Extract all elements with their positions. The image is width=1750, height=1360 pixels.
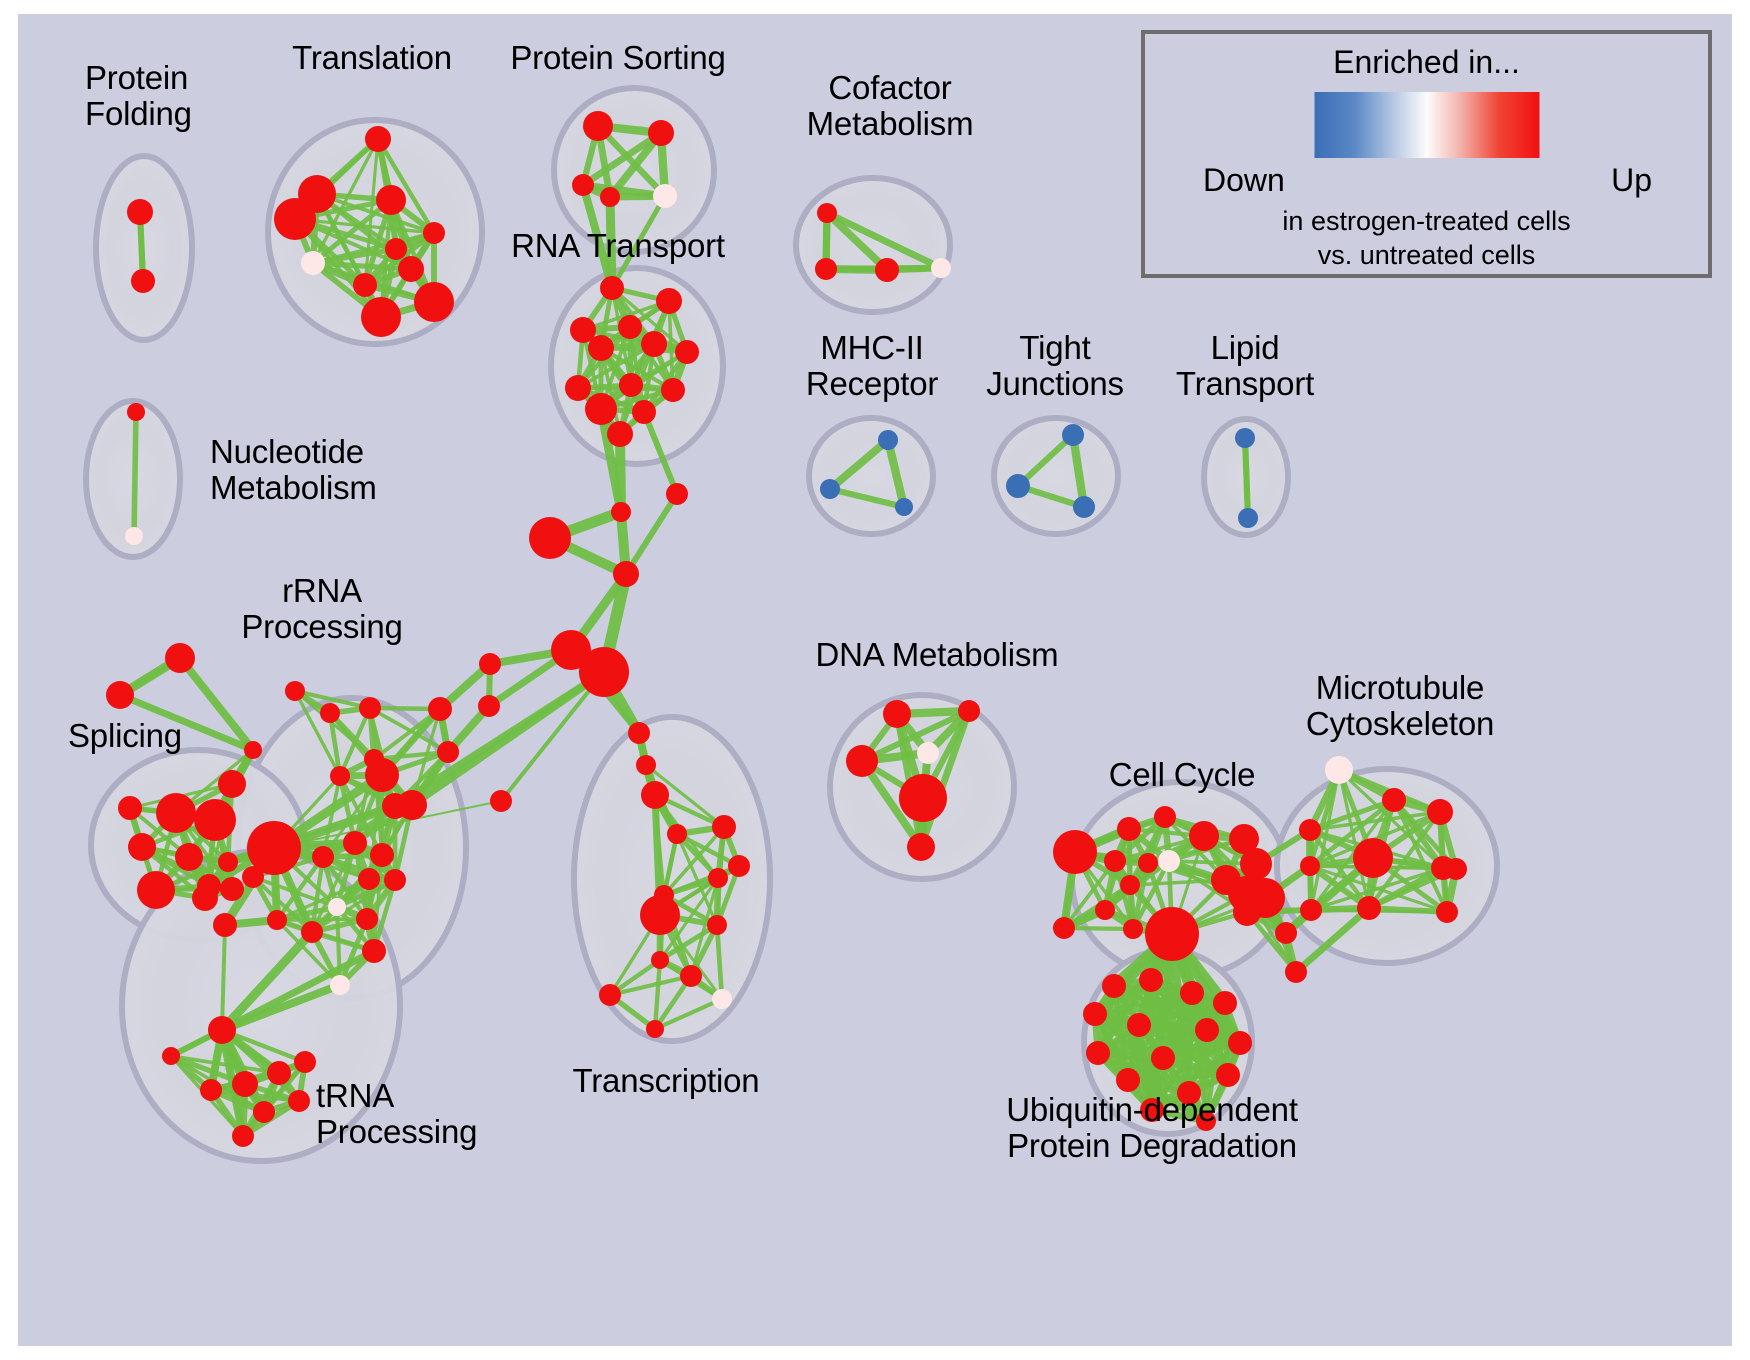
- network-node[interactable]: [127, 403, 145, 421]
- cluster-label-trna-processing: tRNA Processing: [316, 1078, 477, 1149]
- network-node[interactable]: [423, 222, 445, 244]
- network-node[interactable]: [641, 781, 669, 809]
- network-node[interactable]: [490, 790, 512, 812]
- network-node[interactable]: [1275, 922, 1297, 944]
- network-node[interactable]: [1240, 848, 1272, 880]
- network-node[interactable]: [194, 799, 236, 841]
- network-node[interactable]: [1300, 899, 1322, 921]
- network-node[interactable]: [1154, 806, 1176, 828]
- cluster-label-rrna-processing: rRNA Processing: [241, 573, 402, 644]
- network-node[interactable]: [958, 700, 980, 722]
- network-node[interactable]: [232, 1125, 254, 1147]
- network-node[interactable]: [125, 527, 143, 545]
- network-node[interactable]: [1180, 981, 1204, 1005]
- edge: [626, 494, 677, 574]
- cluster-label-cofactor-metabolism: Cofactor Metabolism: [807, 70, 974, 141]
- network-node[interactable]: [398, 256, 424, 282]
- network-node[interactable]: [1325, 756, 1353, 784]
- network-node[interactable]: [200, 1079, 222, 1101]
- network-node[interactable]: [707, 915, 727, 935]
- network-node[interactable]: [583, 111, 613, 141]
- network-node[interactable]: [301, 921, 323, 943]
- cluster-ellipse-mhc-ii-receptor[interactable]: [809, 418, 933, 534]
- edge: [1245, 438, 1248, 518]
- network-node[interactable]: [414, 282, 454, 322]
- network-node[interactable]: [213, 913, 237, 937]
- network-node[interactable]: [618, 315, 642, 339]
- network-node[interactable]: [529, 517, 571, 559]
- cluster-label-ubiquitin-degradation: Ubiquitin-dependent Protein Degradation: [1006, 1092, 1298, 1163]
- network-node[interactable]: [1102, 974, 1126, 998]
- network-node[interactable]: [646, 1020, 664, 1038]
- network-node[interactable]: [397, 790, 427, 820]
- network-node[interactable]: [641, 331, 667, 357]
- network-node[interactable]: [1158, 850, 1180, 872]
- figure-root: Protein FoldingTranslationProtein Sortin…: [0, 0, 1750, 1360]
- network-node[interactable]: [628, 722, 650, 744]
- network-node[interactable]: [478, 695, 500, 717]
- network-node[interactable]: [611, 502, 631, 522]
- network-node[interactable]: [1151, 1046, 1175, 1070]
- network-node[interactable]: [361, 297, 401, 337]
- network-node[interactable]: [585, 393, 617, 425]
- network-node[interactable]: [267, 910, 287, 930]
- network-node[interactable]: [1238, 508, 1258, 528]
- network-node[interactable]: [356, 908, 378, 930]
- network-node[interactable]: [1285, 961, 1307, 983]
- network-node[interactable]: [165, 643, 195, 673]
- network-node[interactable]: [479, 653, 501, 675]
- network-node[interactable]: [137, 871, 175, 909]
- network-node[interactable]: [1189, 821, 1219, 851]
- network-node[interactable]: [232, 1071, 258, 1097]
- legend-title: Enriched in...: [1145, 44, 1708, 81]
- network-node[interactable]: [365, 126, 391, 152]
- network-node[interactable]: [875, 258, 899, 282]
- network-node[interactable]: [162, 1047, 180, 1065]
- network-node[interactable]: [1299, 819, 1321, 841]
- network-node[interactable]: [636, 755, 656, 775]
- network-node[interactable]: [895, 498, 913, 516]
- network-node[interactable]: [1073, 496, 1095, 518]
- network-node[interactable]: [1083, 1002, 1107, 1026]
- network-node[interactable]: [253, 1101, 275, 1123]
- network-node[interactable]: [600, 276, 624, 300]
- cluster-label-microtubule-cytoskeleton: Microtubule Cytoskeleton: [1306, 670, 1494, 741]
- network-node[interactable]: [712, 815, 736, 839]
- network-node[interactable]: [1053, 917, 1075, 939]
- cluster-label-splicing: Splicing: [68, 718, 182, 754]
- network-node[interactable]: [667, 824, 687, 844]
- network-node[interactable]: [208, 1016, 236, 1044]
- network-node[interactable]: [708, 868, 728, 888]
- legend-color-gradient-bar: [1314, 92, 1539, 158]
- network-node[interactable]: [359, 697, 381, 719]
- network-node[interactable]: [728, 855, 750, 877]
- network-node[interactable]: [599, 984, 621, 1006]
- cluster-label-translation: Translation: [292, 40, 452, 76]
- network-node[interactable]: [358, 868, 380, 890]
- network-node[interactable]: [651, 951, 669, 969]
- cluster-label-nucleotide-metabolism: Nucleotide Metabolism: [210, 434, 377, 505]
- network-node[interactable]: [1120, 875, 1140, 895]
- cluster-label-mhc-ii-receptor: MHC-II Receptor: [806, 330, 938, 401]
- legend-subtitle-line1: in estrogen-treated cells: [1145, 206, 1708, 237]
- network-node[interactable]: [365, 758, 399, 792]
- cluster-label-protein-folding: Protein Folding: [85, 60, 192, 131]
- network-node[interactable]: [294, 1051, 316, 1073]
- network-node[interactable]: [288, 1090, 310, 1112]
- network-node[interactable]: [579, 647, 629, 697]
- network-node[interactable]: [1138, 853, 1158, 873]
- network-node[interactable]: [1353, 838, 1393, 878]
- network-node[interactable]: [428, 697, 452, 721]
- network-node[interactable]: [385, 238, 407, 260]
- cluster-ellipse-cofactor-metabolism[interactable]: [796, 178, 950, 312]
- network-node[interactable]: [106, 681, 134, 709]
- network-node[interactable]: [320, 703, 340, 723]
- network-node[interactable]: [1445, 858, 1467, 880]
- network-node[interactable]: [878, 430, 898, 450]
- network-node[interactable]: [1357, 896, 1381, 920]
- network-node[interactable]: [1228, 1031, 1252, 1055]
- legend-up-label: Up: [1611, 162, 1652, 199]
- network-node[interactable]: [1216, 1063, 1240, 1087]
- network-node[interactable]: [883, 700, 911, 728]
- network-node[interactable]: [1116, 1068, 1140, 1092]
- network-node[interactable]: [175, 843, 203, 871]
- network-node[interactable]: [712, 989, 732, 1009]
- network-node[interactable]: [1123, 919, 1143, 939]
- network-node[interactable]: [353, 273, 377, 297]
- network-node[interactable]: [1095, 900, 1115, 920]
- network-node[interactable]: [817, 203, 837, 223]
- network-node[interactable]: [128, 833, 156, 861]
- network-node[interactable]: [312, 846, 334, 868]
- network-node[interactable]: [607, 421, 633, 447]
- network-node[interactable]: [632, 400, 656, 424]
- cluster-label-rna-transport: RNA Transport: [511, 228, 725, 264]
- legend-panel: Enriched in... Down Up in estrogen-treat…: [1141, 30, 1712, 278]
- network-node[interactable]: [846, 745, 878, 777]
- network-node[interactable]: [653, 184, 677, 208]
- network-node[interactable]: [917, 742, 939, 764]
- network-node[interactable]: [675, 340, 699, 364]
- network-node[interactable]: [820, 479, 840, 499]
- network-node[interactable]: [330, 766, 350, 786]
- network-node[interactable]: [192, 885, 218, 911]
- network-node[interactable]: [384, 869, 406, 891]
- network-node[interactable]: [619, 373, 643, 397]
- network-node[interactable]: [1145, 907, 1199, 961]
- network-node[interactable]: [600, 187, 620, 207]
- network-node[interactable]: [330, 975, 350, 995]
- network-node[interactable]: [1300, 856, 1320, 876]
- network-node[interactable]: [1086, 1041, 1110, 1065]
- network-node[interactable]: [156, 793, 196, 833]
- network-node[interactable]: [1127, 1013, 1151, 1037]
- network-node[interactable]: [648, 120, 674, 146]
- network-node[interactable]: [565, 375, 591, 401]
- cluster-label-lipid-transport: Lipid Transport: [1176, 330, 1314, 401]
- network-node[interactable]: [218, 852, 238, 872]
- network-node[interactable]: [274, 198, 316, 240]
- network-node[interactable]: [285, 681, 305, 701]
- network-node[interactable]: [1104, 850, 1126, 872]
- network-node[interactable]: [328, 898, 346, 916]
- network-node[interactable]: [640, 895, 680, 935]
- network-node[interactable]: [343, 831, 367, 855]
- network-node[interactable]: [1053, 830, 1097, 874]
- network-node[interactable]: [437, 741, 459, 763]
- network-node[interactable]: [1427, 799, 1453, 825]
- network-node[interactable]: [301, 251, 325, 275]
- network-node[interactable]: [907, 833, 935, 861]
- network-node[interactable]: [1382, 788, 1406, 812]
- network-node[interactable]: [1006, 474, 1030, 498]
- network-node[interactable]: [370, 843, 394, 867]
- network-node[interactable]: [1235, 428, 1255, 448]
- network-node[interactable]: [1139, 968, 1163, 992]
- network-node[interactable]: [588, 335, 614, 361]
- cluster-label-transcription: Transcription: [573, 1063, 760, 1099]
- network-node[interactable]: [613, 561, 639, 587]
- legend-down-label: Down: [1203, 162, 1285, 199]
- cluster-label-dna-metabolism: DNA Metabolism: [816, 637, 1059, 673]
- network-node[interactable]: [131, 269, 155, 293]
- network-node[interactable]: [118, 796, 142, 820]
- network-node[interactable]: [244, 741, 262, 759]
- network-node[interactable]: [220, 877, 244, 901]
- network-node[interactable]: [899, 774, 947, 822]
- network-node[interactable]: [362, 939, 386, 963]
- network-node[interactable]: [376, 185, 406, 215]
- network-node[interactable]: [1195, 1018, 1219, 1042]
- legend-subtitle-line2: vs. untreated cells: [1145, 240, 1708, 271]
- network-node[interactable]: [127, 199, 153, 225]
- network-node[interactable]: [1233, 898, 1261, 926]
- network-node[interactable]: [572, 174, 594, 196]
- network-node[interactable]: [1117, 817, 1141, 841]
- network-node[interactable]: [1436, 901, 1458, 923]
- network-node[interactable]: [931, 258, 951, 278]
- network-node[interactable]: [218, 770, 246, 798]
- network-node[interactable]: [680, 965, 702, 987]
- cluster-label-protein-sorting: Protein Sorting: [510, 40, 725, 76]
- network-node[interactable]: [267, 1061, 291, 1085]
- network-node[interactable]: [242, 866, 264, 888]
- network-node[interactable]: [1062, 424, 1084, 446]
- network-node[interactable]: [661, 378, 685, 402]
- cluster-label-cell-cycle: Cell Cycle: [1109, 757, 1256, 793]
- edge: [134, 412, 136, 536]
- network-node[interactable]: [815, 258, 837, 280]
- network-node[interactable]: [1213, 991, 1237, 1015]
- network-node[interactable]: [666, 483, 688, 505]
- cluster-label-tight-junctions: Tight Junctions: [986, 330, 1124, 401]
- network-node[interactable]: [656, 288, 682, 314]
